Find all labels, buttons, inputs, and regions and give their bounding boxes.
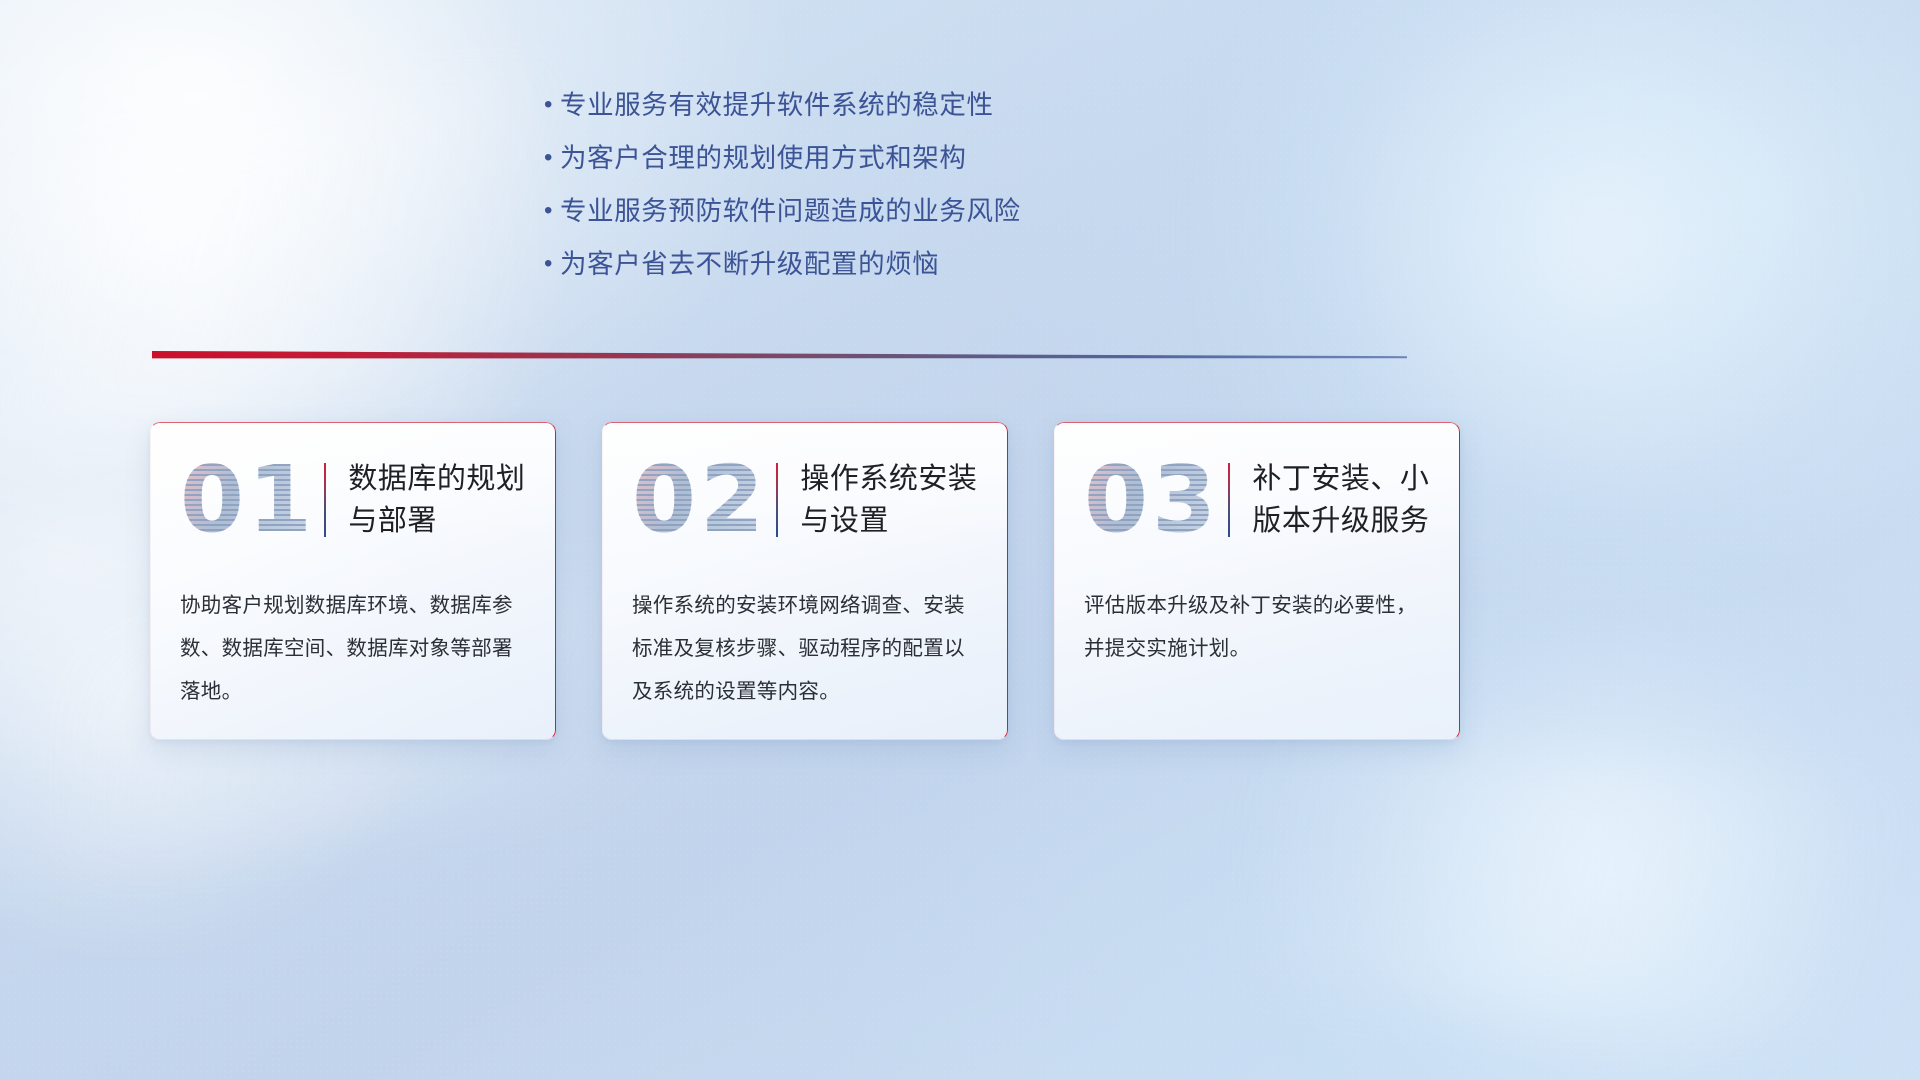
background-light-streak-3 [1238, 724, 1920, 1056]
service-card-02[interactable]: 02 操作系统安装 与设置 操作系统的安装环境网络调查、安装标准及复核步骤、驱动… [602, 422, 1008, 740]
card-divider-rule [1228, 463, 1230, 537]
card-title-line-2: 与设置 [800, 500, 998, 542]
bullet-text: 为客户省去不断升级配置的烦恼 [560, 247, 939, 281]
bullet-text: 为客户合理的规划使用方式和架构 [560, 141, 967, 175]
bullet-dot-icon: • [530, 247, 560, 281]
bullet-text: 专业服务预防软件问题造成的业务风险 [560, 194, 1021, 228]
card-body-text: 评估版本升级及补丁安装的必要性，并提交实施计划。 [1084, 584, 1434, 670]
card-title-line-2: 与部署 [348, 500, 546, 542]
benefits-bullet-list: • 专业服务有效提升软件系统的稳定性 • 为客户合理的规划使用方式和架构 • 专… [530, 88, 1230, 300]
divider-gradient-shape [152, 351, 1407, 363]
card-number-badge: 01 [172, 445, 324, 555]
service-cards-row: 01 数据库的规划 与部署 协助客户规划数据库环境、数据库参数、数据库空间、数据… [150, 422, 1460, 744]
bullet-dot-icon: • [530, 141, 560, 175]
card-title-line-2: 版本升级服务 [1252, 500, 1450, 542]
card-number-text: 03 [1084, 454, 1220, 546]
list-item: • 为客户合理的规划使用方式和架构 [530, 141, 1230, 194]
bullet-text: 专业服务有效提升软件系统的稳定性 [560, 88, 994, 122]
card-title-line-1: 数据库的规划 [348, 458, 546, 500]
service-card-03[interactable]: 03 补丁安装、小 版本升级服务 评估版本升级及补丁安装的必要性，并提交实施计划… [1054, 422, 1460, 740]
card-number-badge: 03 [1076, 445, 1228, 555]
section-divider [152, 350, 1407, 362]
card-body-text: 协助客户规划数据库环境、数据库参数、数据库空间、数据库对象等部署落地。 [180, 584, 530, 713]
card-title: 数据库的规划 与部署 [348, 458, 556, 542]
card-title-line-1: 补丁安装、小 [1252, 458, 1450, 500]
card-divider-rule [324, 463, 326, 537]
card-header: 03 补丁安装、小 版本升级服务 [1054, 440, 1460, 560]
card-divider-rule [776, 463, 778, 537]
bullet-dot-icon: • [530, 194, 560, 228]
slide-canvas: • 专业服务有效提升软件系统的稳定性 • 为客户合理的规划使用方式和架构 • 专… [0, 0, 1920, 1080]
card-header: 01 数据库的规划 与部署 [150, 440, 556, 560]
bullet-dot-icon: • [530, 88, 560, 122]
card-number-badge: 02 [624, 445, 776, 555]
card-title: 补丁安装、小 版本升级服务 [1252, 458, 1460, 542]
list-item: • 专业服务有效提升软件系统的稳定性 [530, 88, 1230, 141]
card-body-text: 操作系统的安装环境网络调查、安装标准及复核步骤、驱动程序的配置以及系统的设置等内… [632, 584, 982, 713]
card-number-text: 01 [180, 454, 316, 546]
card-title-line-1: 操作系统安装 [800, 458, 998, 500]
service-card-01[interactable]: 01 数据库的规划 与部署 协助客户规划数据库环境、数据库参数、数据库空间、数据… [150, 422, 556, 740]
list-item: • 为客户省去不断升级配置的烦恼 [530, 247, 1230, 300]
card-title: 操作系统安装 与设置 [800, 458, 1008, 542]
card-header: 02 操作系统安装 与设置 [602, 440, 1008, 560]
card-number-text: 02 [632, 454, 768, 546]
list-item: • 专业服务预防软件问题造成的业务风险 [530, 194, 1230, 247]
